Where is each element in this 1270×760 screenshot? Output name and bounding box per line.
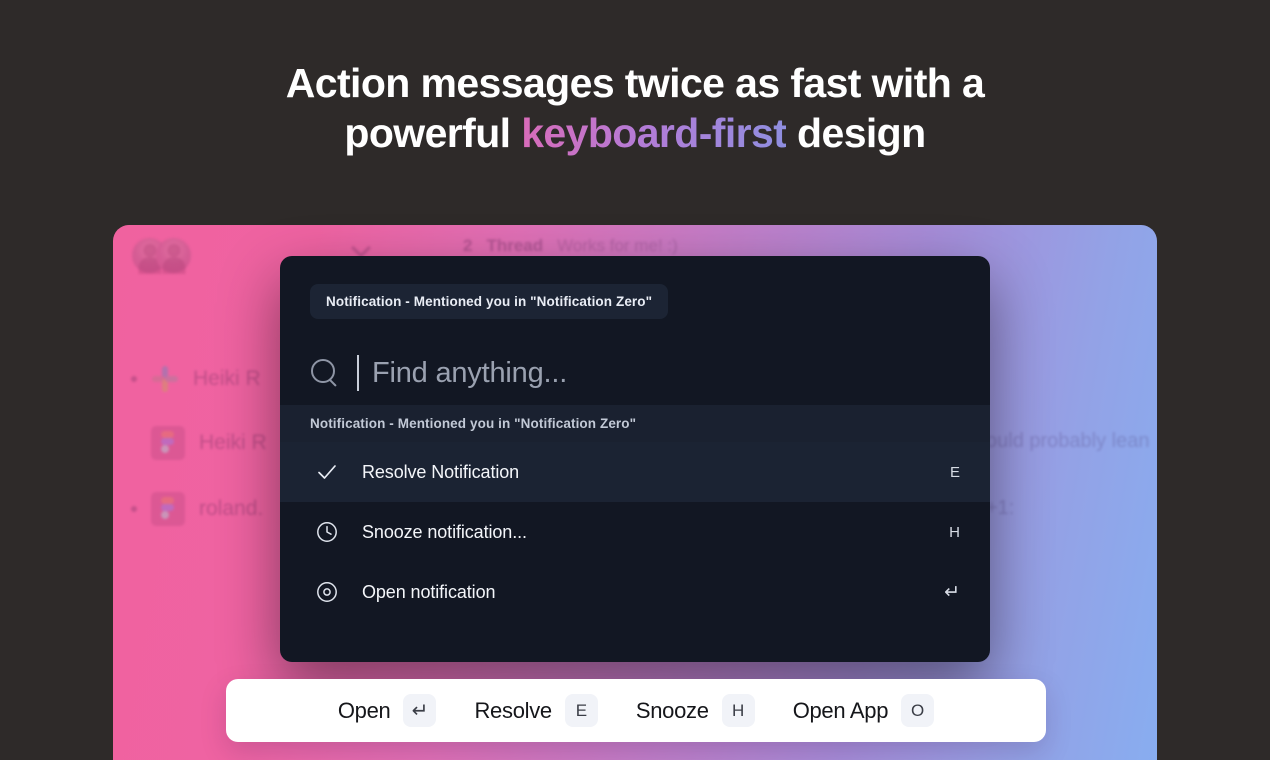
figma-icon bbox=[151, 426, 185, 460]
target-icon bbox=[310, 580, 344, 604]
headline-accent: keyboard-first bbox=[521, 110, 786, 156]
unread-dot-icon bbox=[131, 506, 137, 512]
avatar-group bbox=[132, 238, 206, 274]
action-snooze[interactable]: Snooze H bbox=[636, 694, 755, 727]
message-snippet: ould probably lean bbox=[986, 430, 1149, 453]
figma-icon bbox=[151, 492, 185, 526]
thread-label: Thread bbox=[486, 236, 543, 256]
page-title: Action messages twice as fast with a pow… bbox=[0, 58, 1270, 158]
command-item-shortcut: E bbox=[950, 464, 960, 481]
results-group-header: Notification - Mentioned you in "Notific… bbox=[280, 405, 990, 442]
search-icon bbox=[310, 358, 340, 388]
message-snippet: +1: bbox=[986, 497, 1014, 520]
e-key-badge: E bbox=[565, 694, 598, 727]
action-open[interactable]: Open ↵ bbox=[338, 694, 437, 727]
search-row[interactable]: Find anything... bbox=[280, 319, 990, 405]
avatar bbox=[156, 238, 191, 273]
command-item-open-notification[interactable]: Open notification ↵ bbox=[280, 562, 990, 622]
chevron-down-icon bbox=[353, 241, 371, 251]
list-item-label: roland. bbox=[199, 497, 263, 521]
enter-key-badge: ↵ bbox=[403, 694, 436, 727]
command-item-label: Open notification bbox=[362, 582, 944, 603]
list-item-label: Heiki R bbox=[199, 431, 267, 455]
headline-line-2: powerful keyboard-first design bbox=[0, 108, 1270, 158]
headline-prefix: powerful bbox=[344, 110, 521, 156]
check-icon bbox=[310, 460, 344, 484]
command-item-resolve-notification[interactable]: Resolve Notification E bbox=[280, 442, 990, 502]
list-item: roland. bbox=[131, 492, 263, 526]
action-resolve[interactable]: Resolve E bbox=[474, 694, 597, 727]
list-item: Heiki R bbox=[131, 426, 267, 460]
command-palette: Notification - Mentioned you in "Notific… bbox=[280, 256, 990, 662]
slack-icon bbox=[151, 365, 179, 393]
text-caret bbox=[357, 355, 359, 391]
command-item-shortcut: ↵ bbox=[944, 581, 960, 604]
thread-count: 2 bbox=[463, 236, 472, 256]
unread-dot-icon bbox=[131, 376, 137, 382]
command-item-shortcut: H bbox=[949, 524, 960, 541]
search-input[interactable]: Find anything... bbox=[372, 357, 567, 390]
action-open-app[interactable]: Open App O bbox=[793, 694, 934, 727]
palette-header: Notification - Mentioned you in "Notific… bbox=[280, 256, 990, 319]
thread-message: Works for me! :) bbox=[557, 236, 678, 256]
command-item-label: Snooze notification... bbox=[362, 522, 949, 543]
o-key-badge: O bbox=[901, 694, 934, 727]
action-label: Snooze bbox=[636, 698, 709, 724]
action-bar: Open ↵ Resolve E Snooze H Open App O bbox=[226, 679, 1046, 742]
action-label: Open App bbox=[793, 698, 888, 724]
context-chip: Notification - Mentioned you in "Notific… bbox=[310, 284, 668, 319]
list-item-label: Heiki R bbox=[193, 367, 261, 391]
action-label: Resolve bbox=[474, 698, 551, 724]
unread-dot-icon bbox=[131, 440, 137, 446]
list-item: Heiki R bbox=[131, 365, 261, 393]
headline-line-1: Action messages twice as fast with a bbox=[0, 58, 1270, 108]
action-label: Open bbox=[338, 698, 391, 724]
command-item-label: Resolve Notification bbox=[362, 462, 950, 483]
command-item-snooze-notification[interactable]: Snooze notification... H bbox=[280, 502, 990, 562]
headline-suffix: design bbox=[786, 110, 925, 156]
h-key-badge: H bbox=[722, 694, 755, 727]
clock-icon bbox=[310, 520, 344, 544]
